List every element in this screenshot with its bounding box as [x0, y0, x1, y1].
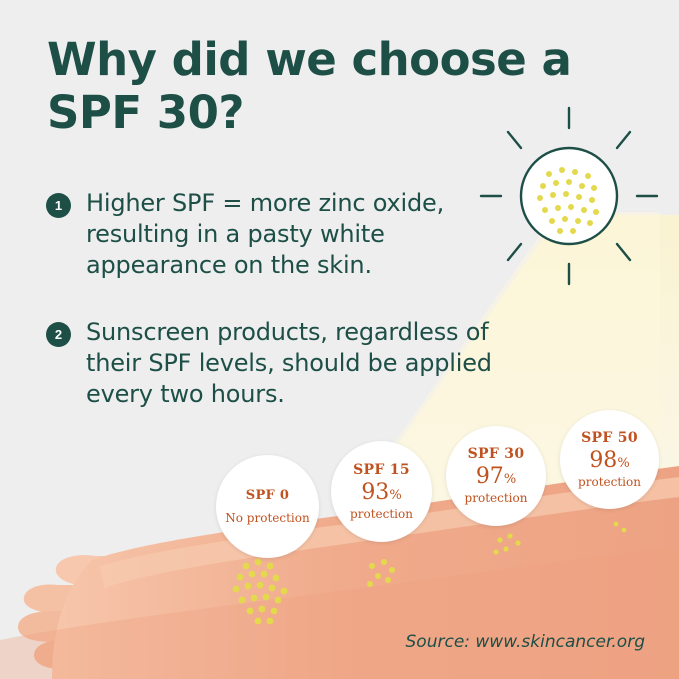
bullet-number-2: 2	[46, 322, 71, 347]
spf-bubble-30-sub: protection	[465, 492, 528, 506]
bullet-number-1: 1	[46, 193, 71, 218]
spf-bubble-30-percent: 97	[476, 464, 504, 489]
spf-bubble-50: SPF 50 98 % protection	[560, 410, 659, 509]
spf-bubble-15-symbol: %	[389, 488, 401, 503]
list-item-1: 1 Higher SPF = more zinc oxide, resultin…	[46, 188, 516, 281]
spf-bubble-0: SPF 0 No protection	[216, 455, 319, 558]
spf-bubble-30-label: SPF 30	[468, 446, 525, 462]
spf-bubble-15: SPF 15 93 % protection	[331, 441, 432, 542]
list-item-2: 2 Sunscreen products, regardless of thei…	[46, 317, 546, 410]
spf-bubble-30: SPF 30 97 % protection	[446, 426, 546, 526]
list-item-2-text: Sunscreen products, regardless of their …	[86, 317, 546, 410]
spf-bubble-30-symbol: %	[504, 472, 516, 487]
spf-bubble-15-percent: 93	[361, 480, 389, 505]
spf-bubble-0-label: SPF 0	[246, 488, 289, 503]
list-item-1-text: Higher SPF = more zinc oxide, resulting …	[86, 188, 516, 281]
page-title: Why did we choose a SPF 30?	[47, 33, 607, 139]
spf-bubble-15-sub: protection	[350, 508, 413, 522]
source-credit: Source: www.skincancer.org	[406, 632, 645, 652]
spf-bubble-50-percent: 98	[589, 448, 617, 473]
spf-bubble-50-symbol: %	[617, 456, 629, 471]
spf-bubble-50-sub: protection	[578, 476, 641, 490]
spf-bubble-50-label: SPF 50	[581, 430, 638, 446]
spf-bubble-0-sub: No protection	[225, 512, 309, 526]
spf-bubble-15-label: SPF 15	[353, 462, 410, 478]
infographic-canvas: Why did we choose a SPF 30? 1 Higher SPF…	[0, 0, 679, 679]
